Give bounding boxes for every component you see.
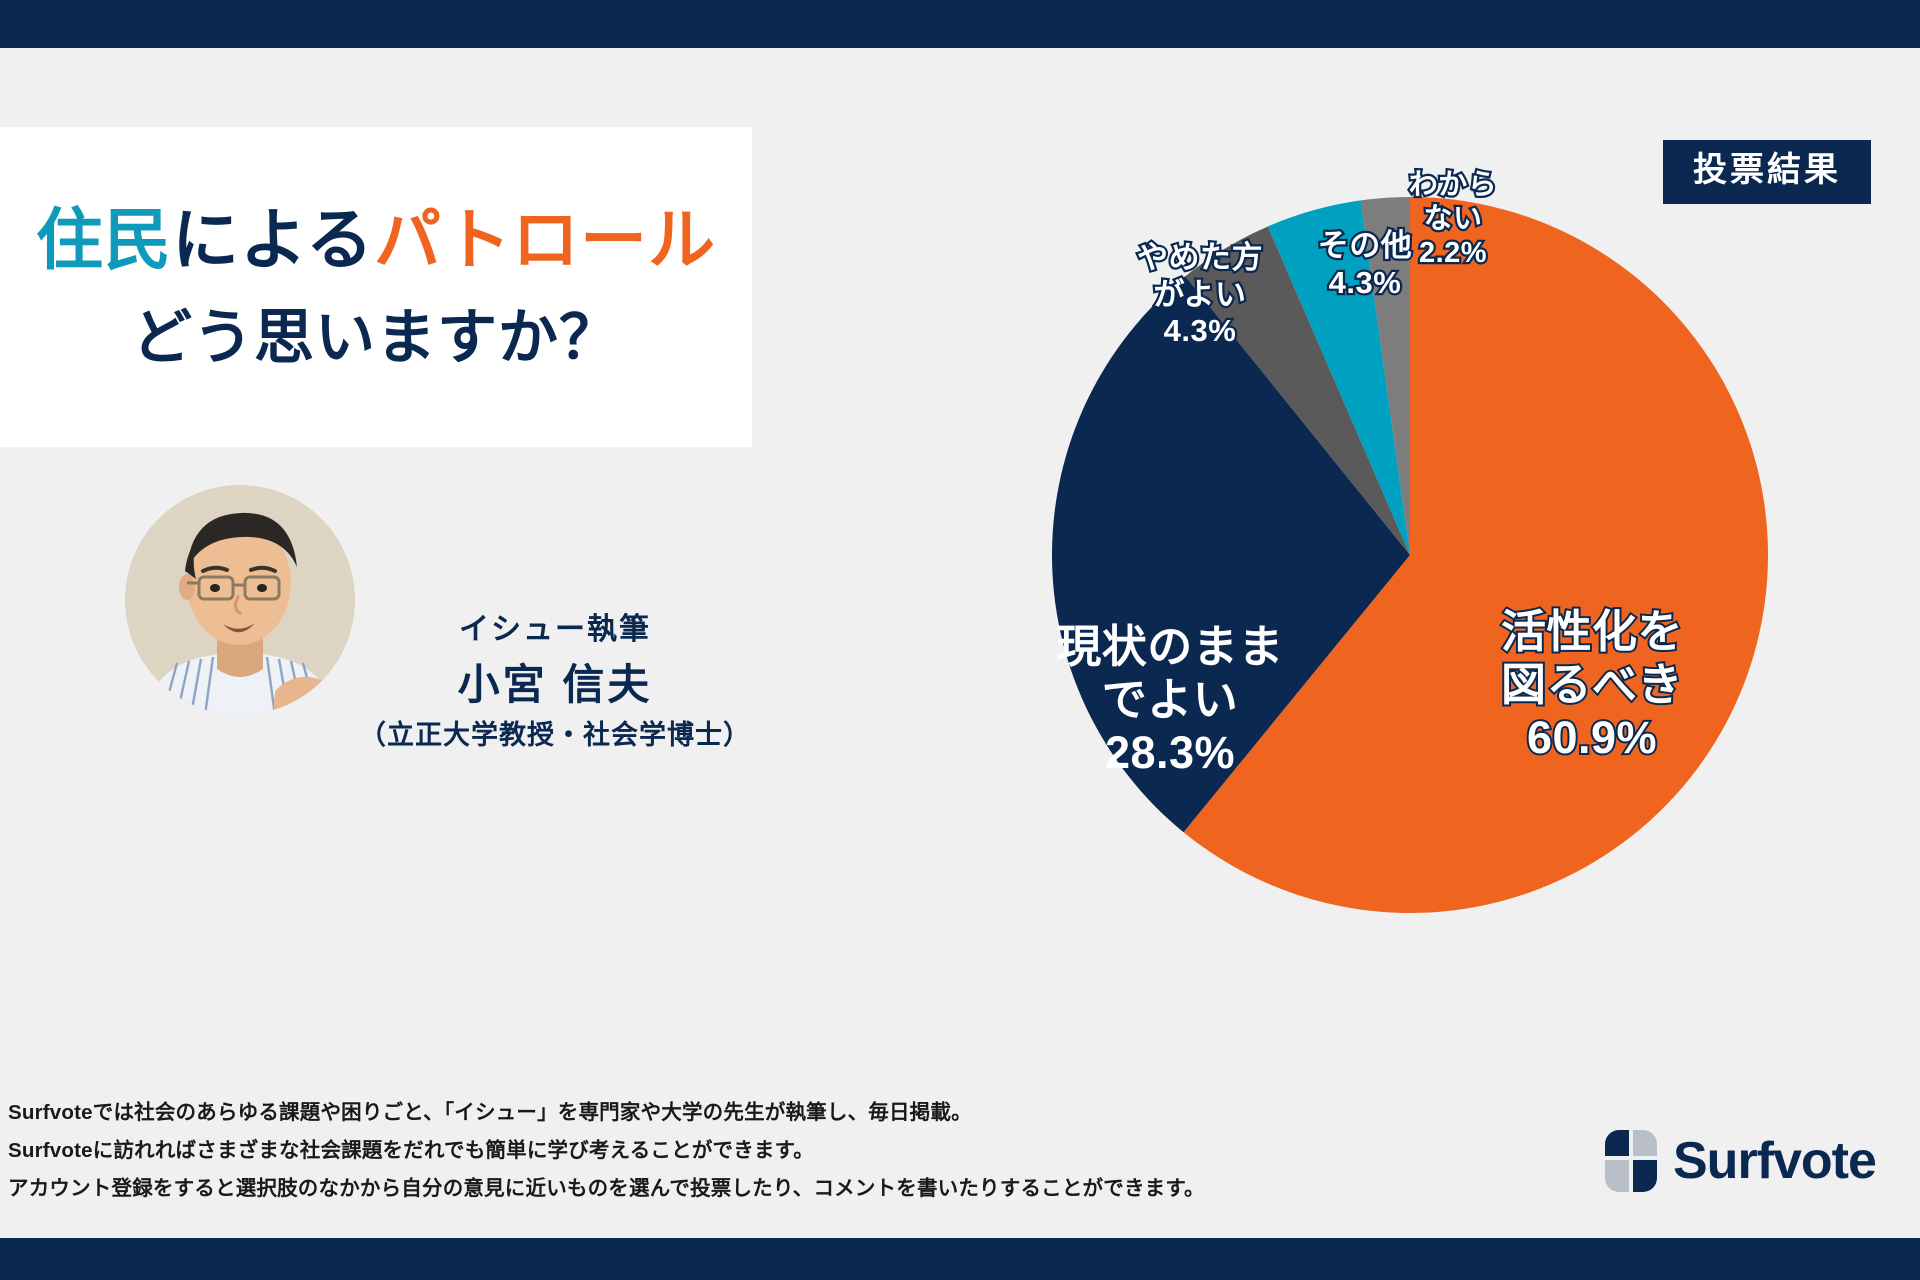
page-title-line-2: どう思いますか？ [132, 303, 620, 372]
footer-line-3: アカウント登録をすると選択肢のなかから自分の意見に近いものを選んで投票したり、コ… [8, 1170, 1308, 1208]
surfvote-logo: Surfvote [1605, 1130, 1876, 1192]
bottom-navy-bar [0, 1238, 1920, 1280]
footer-description: Surfvoteでは社会のあらゆる課題や困りごと、「イシュー」を専門家や大学の先… [8, 1094, 1308, 1208]
author-role: イシュー執筆 [350, 610, 760, 649]
author-name: 小宮 信夫 [350, 659, 760, 712]
slide-root: 住民によるパトロール どう思いますか？ [0, 0, 1920, 1280]
surfvote-mark-icon [1605, 1130, 1657, 1192]
page-title-line-1: 住民によるパトロール [36, 202, 716, 279]
footer-line-2: Surfvoteに訪れればさまざまな社会課題をだれでも簡単に学び考えることができ… [8, 1132, 1308, 1170]
vote-result-badge: 投票結果 [1663, 140, 1871, 204]
footer-line-1: Surfvoteでは社会のあらゆる課題や困りごと、「イシュー」を専門家や大学の先… [8, 1094, 1308, 1132]
avatar [125, 485, 355, 715]
surfvote-wordmark: Surfvote [1673, 1135, 1876, 1187]
title-part-patrol: パトロール [374, 203, 716, 278]
title-part-by: による [172, 203, 374, 278]
pie-chart [1052, 197, 1768, 913]
author-info: イシュー執筆 小宮 信夫 （立正大学教授・社会学博士） [350, 610, 760, 753]
title-card: 住民によるパトロール どう思いますか？ [0, 127, 752, 447]
top-navy-bar [0, 0, 1920, 48]
title-part-residents: 住民 [36, 203, 172, 278]
author-credentials: （立正大学教授・社会学博士） [350, 718, 760, 753]
